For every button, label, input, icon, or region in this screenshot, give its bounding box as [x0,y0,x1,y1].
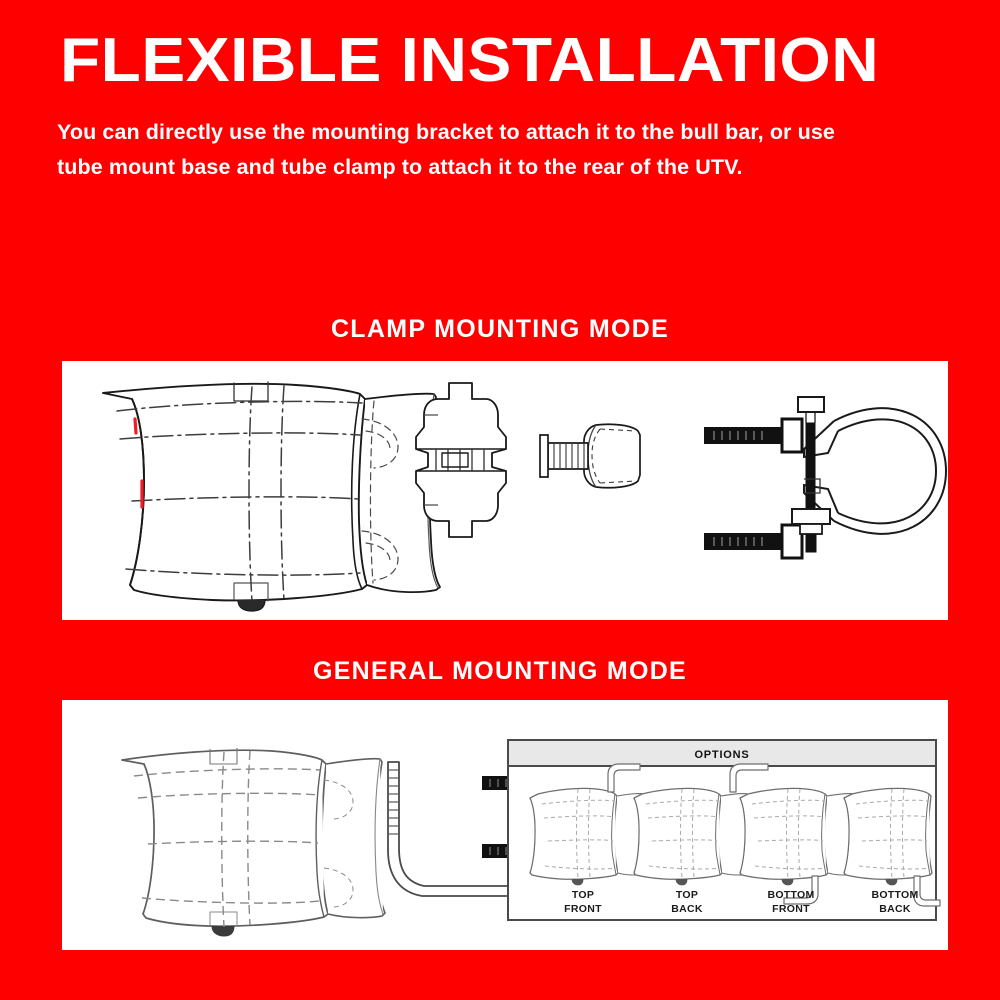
light-housing-drawing [103,384,440,601]
option-label-3-line2: FRONT [772,903,810,915]
general-mounting-panel: OPTIONS [62,700,948,950]
tube-clamp-drawing [792,397,948,552]
bolt-insert-drawing [540,424,640,488]
option-label-4-line1: BOTTOM [871,889,918,901]
page-title: FLEXIBLE INSTALLATION [60,30,1000,92]
clamp-mounting-panel [62,361,948,620]
light-housing-drawing [122,748,385,936]
hex-bolt-upper-drawing [704,419,802,452]
option-label-2-line1: TOP [676,889,698,901]
infographic-page: FLEXIBLE INSTALLATION You can directly u… [0,0,1000,1000]
page-description: You can directly use the mounting bracke… [57,115,857,185]
section-heading-general: GENERAL MOUNTING MODE [0,657,1000,686]
options-box: OPTIONS [508,740,940,920]
options-header-label: OPTIONS [694,749,749,761]
hex-bolt-lower-drawing [704,525,802,558]
option-label-3-line1: BOTTOM [767,889,814,901]
option-label-1-line1: TOP [572,889,594,901]
option-label-4-line2: BACK [879,903,911,915]
option-label-2-line2: BACK [671,903,703,915]
section-heading-clamp: CLAMP MOUNTING MODE [0,315,1000,344]
option-label-1-line2: FRONT [564,903,602,915]
